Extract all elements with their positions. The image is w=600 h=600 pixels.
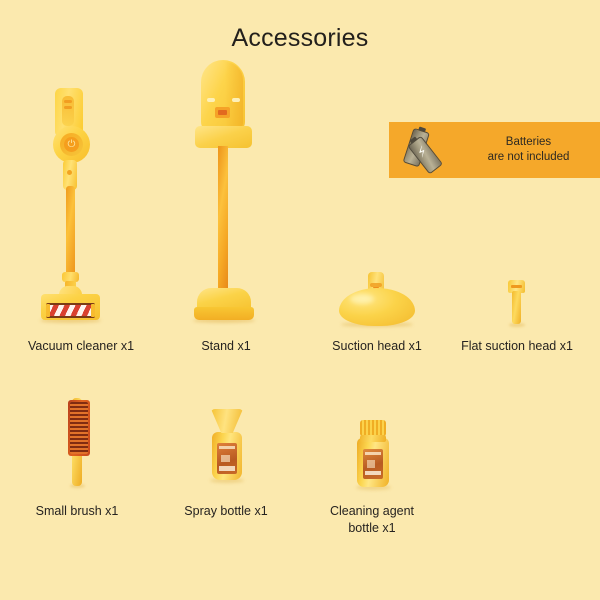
vacuum-roller-end-right bbox=[91, 304, 95, 317]
batteries-notice-banner: ⚡ ⚡ Batteries are not included bbox=[389, 122, 600, 178]
spray-bottle-nozzle bbox=[211, 409, 243, 433]
cleaning-agent-label-bar bbox=[365, 471, 381, 475]
spray-bottle-label-line bbox=[219, 446, 235, 449]
batteries-notice-text: Batteries are not included bbox=[469, 135, 600, 165]
batteries-notice-line2: are not included bbox=[469, 150, 588, 165]
small-brush-bristles bbox=[70, 402, 88, 454]
vacuum-roller-brush bbox=[48, 305, 93, 316]
item-label-line1: Cleaning agent bbox=[330, 504, 414, 518]
vacuum-vent-slot bbox=[64, 100, 72, 103]
stand-hook-left bbox=[207, 98, 215, 102]
accessories-page: Accessories ⚡ ⚡ Batteries are not includ… bbox=[0, 0, 600, 600]
page-title: Accessories bbox=[0, 24, 600, 53]
stand-cradle-shading bbox=[225, 62, 243, 130]
stand-charging-port-inner bbox=[218, 110, 227, 115]
suction-head-neck-ring bbox=[370, 283, 382, 287]
stand-hook-right bbox=[232, 98, 240, 102]
cleaning-agent-label-line bbox=[365, 452, 381, 455]
suction-head-highlight bbox=[350, 294, 374, 304]
item-label-cleaning-agent-bottle: Cleaning agent bottle x1 bbox=[272, 503, 472, 537]
vacuum-vent-slot bbox=[64, 106, 72, 109]
vacuum-power-button-icon: ⏻ bbox=[64, 137, 79, 152]
spray-bottle-label-mark bbox=[221, 455, 230, 462]
stand-pole bbox=[218, 146, 228, 289]
vacuum-roller-end-left bbox=[46, 304, 50, 317]
item-label-line2: bottle x1 bbox=[348, 521, 395, 535]
flat-suction-head-nozzle bbox=[512, 291, 521, 324]
suction-head-dome bbox=[339, 288, 415, 326]
vacuum-wand-tube bbox=[66, 186, 75, 276]
cleaning-agent-bottle-cap bbox=[360, 420, 386, 435]
vacuum-button-dot bbox=[67, 170, 72, 175]
spray-bottle-label-bar bbox=[219, 466, 235, 471]
item-label-flat-suction-head: Flat suction head x1 bbox=[417, 338, 600, 355]
flat-suction-head-slot bbox=[511, 285, 522, 288]
cleaning-agent-label-mark bbox=[367, 460, 375, 468]
stand-base-bottom bbox=[194, 307, 254, 320]
stand-collar bbox=[195, 126, 252, 148]
batteries-notice-line1: Batteries bbox=[469, 135, 588, 150]
battery-icon: ⚡ ⚡ bbox=[399, 125, 469, 175]
